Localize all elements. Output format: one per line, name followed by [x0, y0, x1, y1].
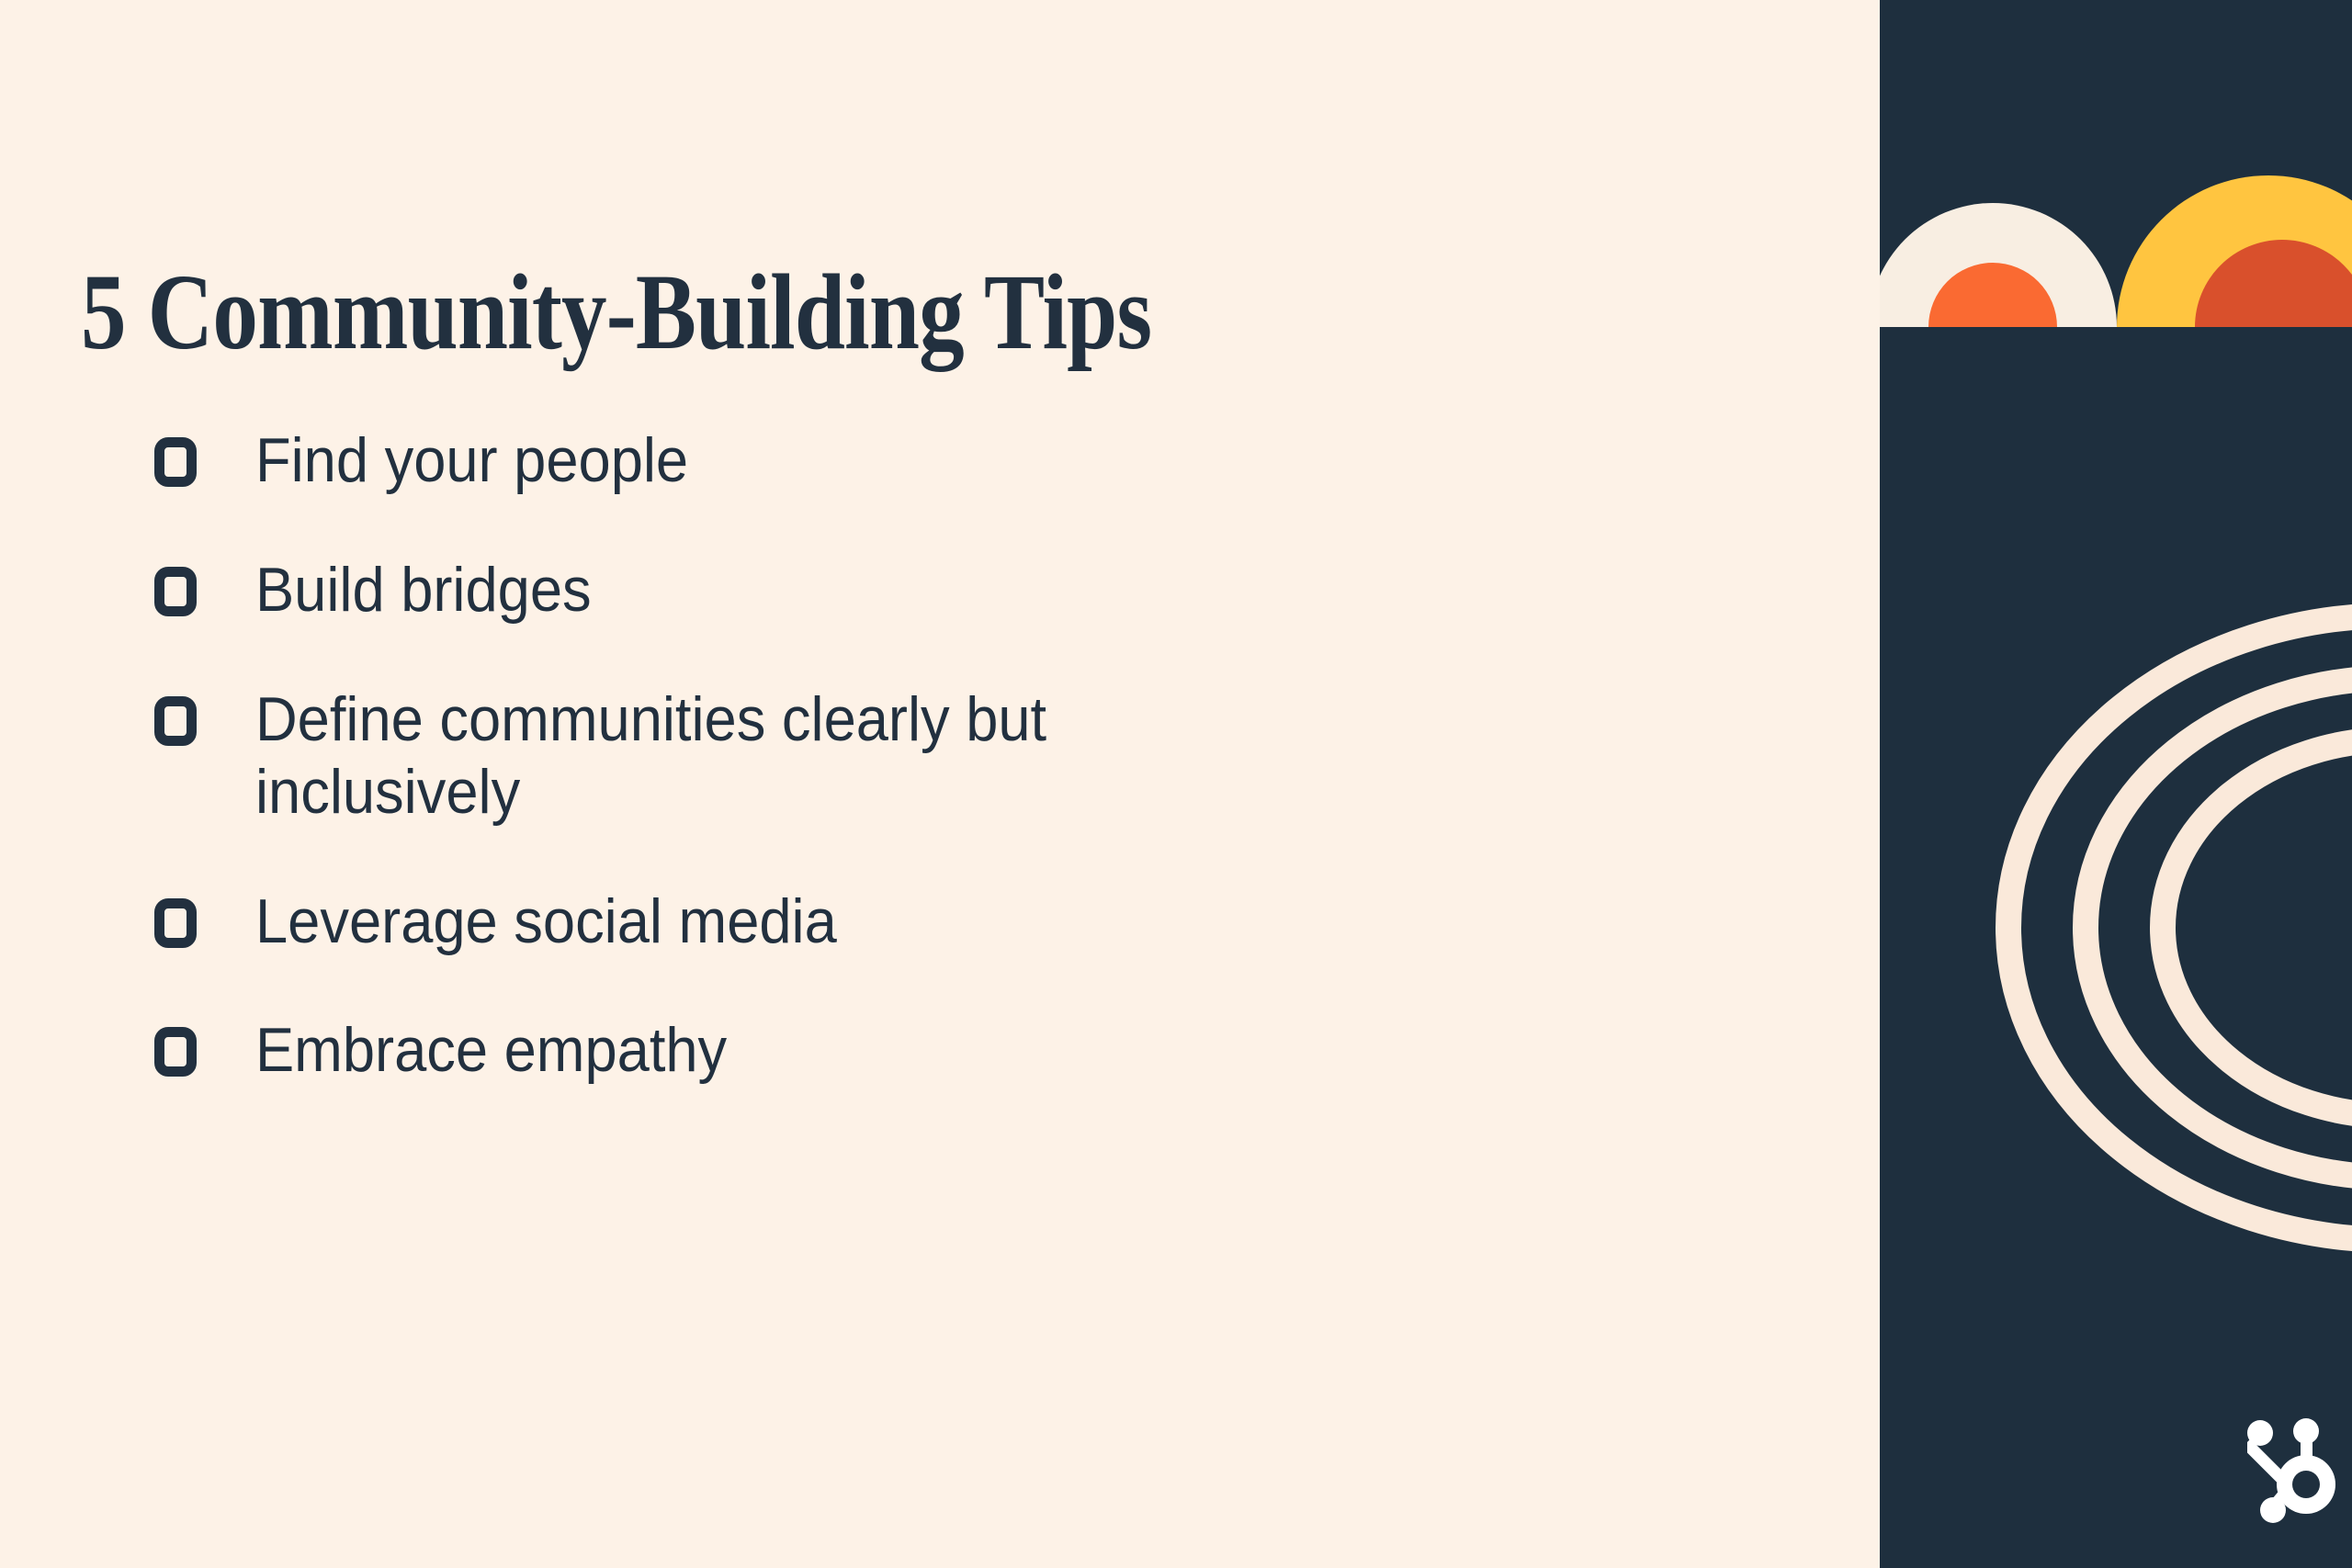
- list-item[interactable]: Build bridges: [154, 554, 1532, 626]
- list-item[interactable]: Embrace empathy: [154, 1014, 1532, 1087]
- rounded-square-bullet-icon: [154, 898, 197, 948]
- list-item[interactable]: Find your people: [154, 424, 1532, 497]
- list-item[interactable]: Define communities clearly but inclusive…: [154, 683, 1532, 829]
- list-item[interactable]: Leverage social media: [154, 886, 1532, 958]
- list-item-label: Define communities clearly but inclusive…: [255, 683, 1195, 829]
- content-area: 5 Community-Building Tips Find your peop…: [0, 0, 1880, 1568]
- tips-list: Find your people Build bridges Define co…: [154, 424, 1532, 1087]
- page-title: 5 Community-Building Tips: [81, 258, 1151, 367]
- list-item-label: Find your people: [255, 424, 1195, 497]
- slide-canvas: 5 Community-Building Tips Find your peop…: [0, 0, 2352, 1568]
- decorative-panel: [1880, 0, 2352, 1568]
- list-item-label: Leverage social media: [255, 886, 1195, 958]
- rounded-square-bullet-icon: [154, 567, 197, 616]
- list-item-label: Embrace empathy: [255, 1014, 1195, 1087]
- rounded-square-bullet-icon: [154, 1027, 197, 1077]
- hubspot-logo-icon: [2247, 1415, 2348, 1525]
- rounded-square-bullet-icon: [154, 437, 197, 487]
- concentric-rings-graphic: [1880, 0, 2352, 1568]
- rounded-square-bullet-icon: [154, 696, 197, 746]
- list-item-label: Build bridges: [255, 554, 1195, 626]
